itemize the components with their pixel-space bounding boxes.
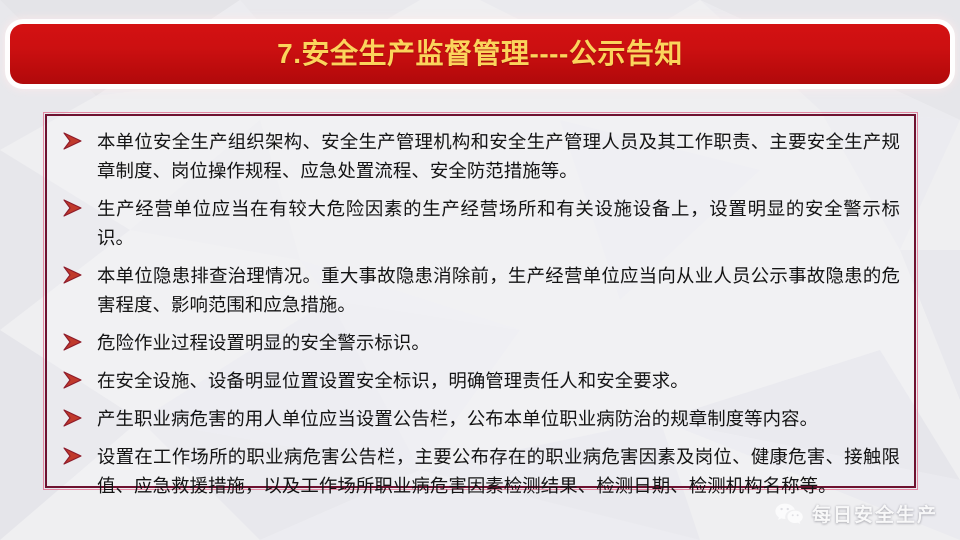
list-item: 危险作业过程设置明显的安全警示标识。 [55,328,900,357]
list-item-text: 设置在工作场所的职业病危害公告栏，主要公布存在的职业病危害因素及岗位、健康危害、… [97,446,900,496]
list-item: 生产经营单位应当在有较大危险因素的生产经营场所和有关设施设备上，设置明显的安全警… [55,194,900,252]
wechat-logo-icon [774,501,804,527]
arrow-bullet-icon [63,199,85,217]
list-item: 在安全设施、设备明显位置设置安全标识，明确管理责任人和安全要求。 [55,366,900,395]
watermark-text: 每日安全生产 [812,500,938,527]
list-item-text: 危险作业过程设置明显的安全警示标识。 [97,332,430,353]
slide-canvas: 7.安全生产监督管理----公示告知 本单位安全生产组织架构、安全生产管理机构和… [0,0,960,540]
content-panel: 本单位安全生产组织架构、安全生产管理机构和安全生产管理人员及其工作职责、主要安全… [45,114,916,488]
arrow-bullet-icon [63,333,85,351]
list-item: 本单位隐患排查治理情况。重大事故隐患消除前，生产经营单位应当向从业人员公示事故隐… [55,261,900,319]
arrow-bullet-icon [63,447,85,465]
slide-title-banner: 7.安全生产监督管理----公示告知 [10,24,950,84]
list-item-text: 在安全设施、设备明显位置设置安全标识，明确管理责任人和安全要求。 [97,370,689,391]
watermark: 每日安全生产 [774,500,938,527]
arrow-bullet-icon [63,371,85,389]
arrow-bullet-icon [63,409,85,427]
page-title: 7.安全生产监督管理----公示告知 [277,40,683,68]
arrow-bullet-icon [63,266,85,284]
arrow-bullet-icon [63,132,85,150]
list-item-text: 本单位安全生产组织架构、安全生产管理机构和安全生产管理人员及其工作职责、主要安全… [97,131,900,181]
list-item-text: 产生职业病危害的用人单位应当设置公告栏，公布本单位职业病防治的规章制度等内容。 [97,408,818,429]
list-item-text: 生产经营单位应当在有较大危险因素的生产经营场所和有关设施设备上，设置明显的安全警… [97,198,900,248]
list-item-text: 本单位隐患排查治理情况。重大事故隐患消除前，生产经营单位应当向从业人员公示事故隐… [97,265,900,315]
bullet-list: 本单位安全生产组织架构、安全生产管理机构和安全生产管理人员及其工作职责、主要安全… [55,127,900,500]
list-item: 产生职业病危害的用人单位应当设置公告栏，公布本单位职业病防治的规章制度等内容。 [55,404,900,433]
list-item: 本单位安全生产组织架构、安全生产管理机构和安全生产管理人员及其工作职责、主要安全… [55,127,900,185]
list-item: 设置在工作场所的职业病危害公告栏，主要公布存在的职业病危害因素及岗位、健康危害、… [55,442,900,500]
